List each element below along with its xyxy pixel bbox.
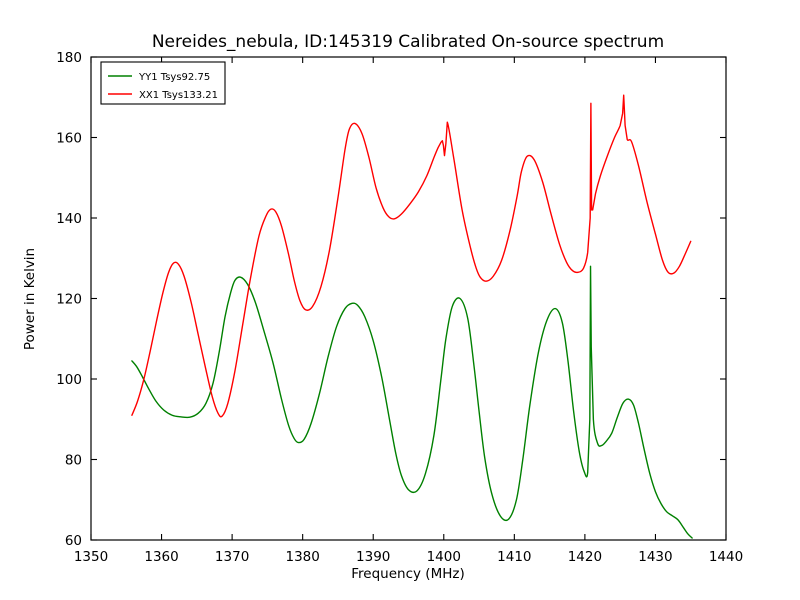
spectrum-plot[interactable]: Nereides_nebula, ID:145319 Calibrated On… (0, 0, 800, 600)
y-tick-label: 120 (56, 292, 82, 308)
x-tick-label: 1370 (215, 549, 249, 565)
figure-canvas: Nereides_nebula, ID:145319 Calibrated On… (0, 0, 800, 600)
x-tick-label: 1350 (74, 549, 108, 565)
y-tick-label: 160 (56, 131, 82, 147)
legend[interactable]: YY1 Tsys92.75XX1 Tsys133.21 (101, 62, 225, 104)
y-tick-label: 140 (56, 211, 82, 227)
x-tick-label: 1410 (497, 549, 531, 565)
y-tick-label: 80 (65, 453, 82, 469)
x-tick-label: 1380 (285, 549, 319, 565)
x-axis-label: Frequency (MHz) (351, 566, 464, 582)
y-tick-label: 60 (65, 533, 82, 549)
y-tick-label: 100 (56, 372, 82, 388)
y-tick-label: 180 (56, 50, 82, 66)
x-tick-label: 1400 (427, 549, 461, 565)
legend-label-2: XX1 Tsys133.21 (139, 90, 218, 101)
x-tick-label: 1440 (709, 549, 743, 565)
x-tick-label: 1360 (144, 549, 178, 565)
x-tick-label: 1390 (356, 549, 390, 565)
x-tick-label: 1420 (568, 549, 602, 565)
page-title: Nereides_nebula, ID:145319 Calibrated On… (152, 32, 664, 52)
y-axis-label: Power in Kelvin (22, 248, 38, 350)
legend-label-1: YY1 Tsys92.75 (138, 72, 210, 83)
x-tick-label: 1430 (638, 549, 672, 565)
